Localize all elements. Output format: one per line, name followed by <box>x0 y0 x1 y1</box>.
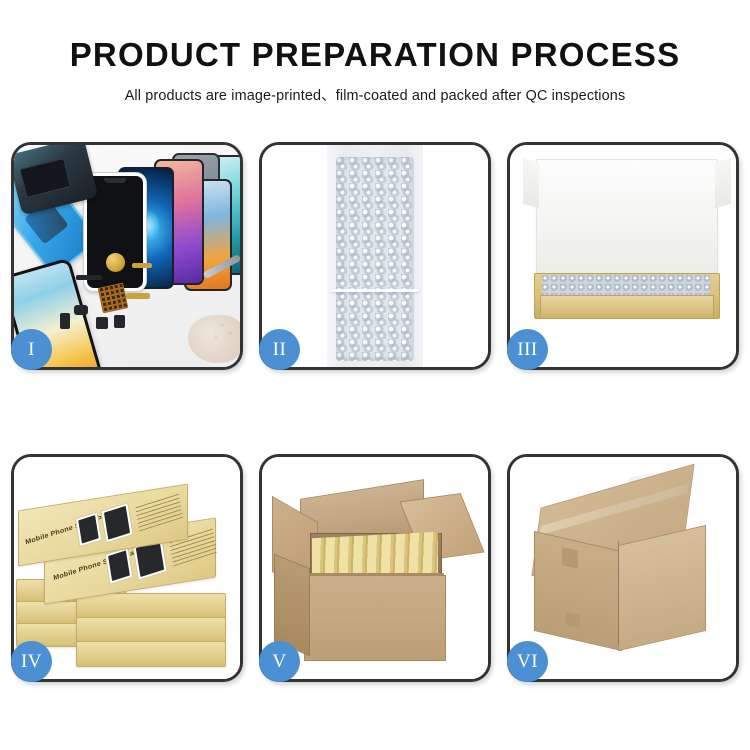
step-2-image <box>262 145 488 367</box>
bubble-wrap-texture-image <box>336 157 414 361</box>
bubble-wrap-seam-image <box>331 289 419 292</box>
page-title: PRODUCT PREPARATION PROCESS <box>0 0 750 73</box>
step-badge-4: IV <box>11 641 52 682</box>
step-panel-1: I <box>11 142 243 370</box>
step-panel-6: VI <box>507 454 739 682</box>
speaker-part-image <box>74 305 88 315</box>
step-5-image <box>262 457 488 679</box>
retail-box-image <box>76 641 226 667</box>
vibration-motor-image <box>106 253 125 272</box>
carton-right-face-image <box>618 525 706 651</box>
step-badge-3: III <box>507 329 548 370</box>
steps-grid: I II III <box>11 142 739 682</box>
power-button-flex-image <box>132 263 152 268</box>
step-panel-5: V <box>259 454 491 682</box>
camera-flex-image <box>126 293 150 299</box>
retail-box-image <box>76 593 226 619</box>
step-panel-2: II <box>259 142 491 370</box>
page-subtitle: All products are image-printed、film-coat… <box>0 73 750 105</box>
sim-tray-part-image <box>60 313 70 329</box>
retail-box-stack-image: Mobile Phone Spare Parts Mobile Phone Sp… <box>14 475 240 675</box>
step-panel-3: III <box>507 142 739 370</box>
step-badge-1: I <box>11 329 52 370</box>
carton-left-face-image <box>534 531 622 651</box>
step-6-image <box>510 457 736 679</box>
step-4-image: Mobile Phone Spare Parts Mobile Phone Sp… <box>14 457 240 679</box>
product-preparation-infographic: PRODUCT PREPARATION PROCESS All products… <box>0 0 750 750</box>
flex-cable-part-image <box>76 275 102 280</box>
carton-front-face-image <box>304 575 446 661</box>
carton-tab-image <box>562 547 578 569</box>
camera-module-image <box>114 315 125 328</box>
step-1-image <box>14 145 240 367</box>
carton-tab-image <box>566 611 580 628</box>
kraft-mailer-front-image <box>540 295 714 319</box>
taptic-engine-image <box>96 317 108 329</box>
carton-corner-seam-image <box>618 541 619 645</box>
step-badge-2: II <box>259 329 300 370</box>
screw-tray-image <box>98 283 129 314</box>
step-badge-5: V <box>259 641 300 682</box>
white-mailer-lid-image <box>536 159 718 279</box>
header: PRODUCT PREPARATION PROCESS All products… <box>0 0 750 105</box>
retail-box-image <box>76 617 226 643</box>
step-badge-6: VI <box>507 641 548 682</box>
step-3-image <box>510 145 736 367</box>
hand-image <box>188 315 240 363</box>
step-panel-4: Mobile Phone Spare Parts Mobile Phone Sp… <box>11 454 243 682</box>
